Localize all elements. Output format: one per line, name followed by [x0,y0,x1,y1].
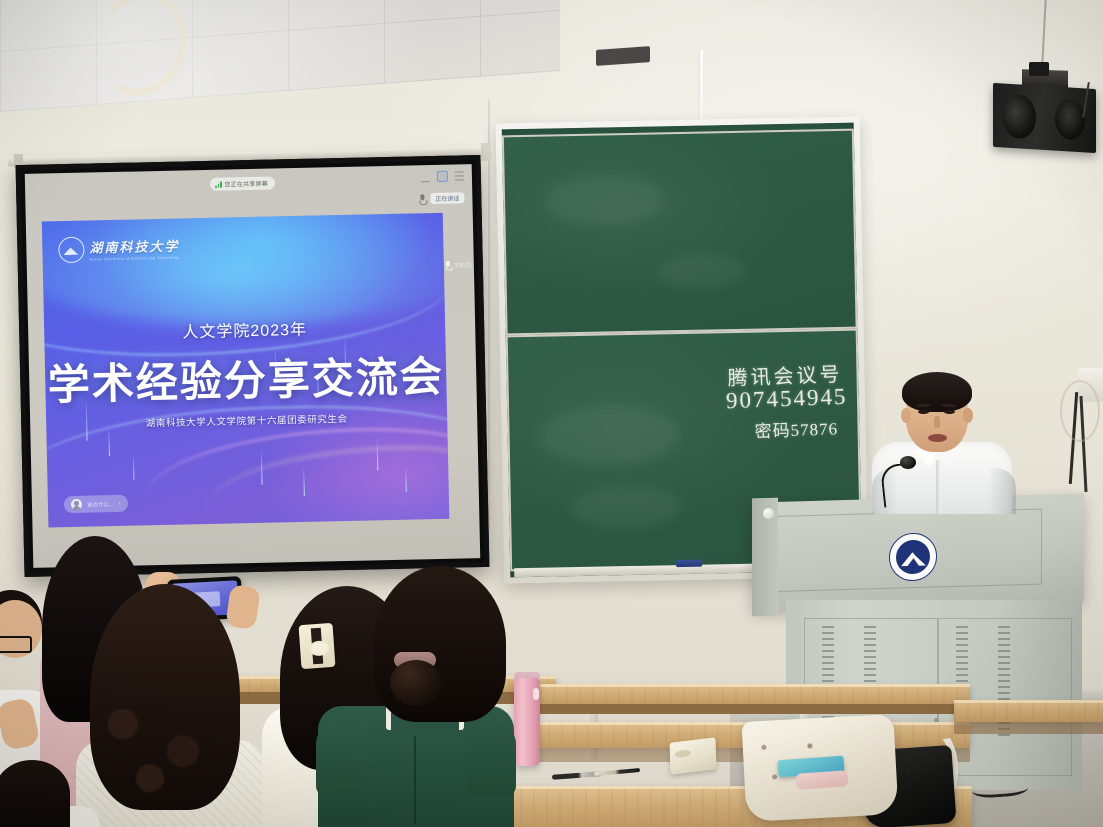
microphone-gooseneck [880,462,916,507]
slide-logo-chinese: 湖南科技大学 [89,236,180,257]
dress-back-seam [414,736,416,824]
slide-university-logo: 湖南科技大学 Hunan University of Science and T… [58,235,180,264]
speaker-ear-right [963,408,973,423]
blackboard-text-meeting-number: 907454945 [725,384,847,414]
slide-logo-english: Hunan University of Science and Technolo… [90,256,180,262]
signal-bars-icon [215,181,222,187]
speaker-hair [902,372,972,412]
wall-seam-secondary [488,100,490,530]
speaker-eye-left [918,410,929,414]
projection-screen: 您正在共享屏幕 正在讲话 学科办 [16,155,490,577]
chat-input-placeholder: 说点什么... [87,500,114,509]
cable-coil [1060,380,1100,442]
hair-bun [390,660,442,706]
bench-desk-front [496,722,970,748]
bench-shadow-right [954,722,1103,734]
chat-avatar-icon [71,499,82,510]
shirt-shadow-right [988,468,1016,514]
speaking-status: 正在讲话 [419,192,464,204]
hamburger-menu-icon[interactable] [455,171,464,180]
tissue-packet[interactable] [669,737,716,775]
student-green-dress-sleeve-right [466,722,516,796]
shirt-placket [936,460,941,514]
podium-microphone[interactable] [878,452,918,504]
chat-input-pill[interactable]: 说点什么... ‹ [64,495,128,513]
bench-desk-mid [540,684,970,704]
wall-speaker-bracket [1029,62,1049,76]
blackboard-panel-upper[interactable] [502,129,858,336]
blackboard-text-password: 密码57876 [754,414,838,442]
speaker-mouth [928,434,947,442]
window-controls[interactable] [421,170,464,182]
blackboard-eraser[interactable] [676,560,702,567]
thermos-button[interactable] [533,688,539,700]
student-green-dress-hair [374,566,506,722]
chevron-left-icon[interactable]: ‹ [118,500,120,506]
bench-desk-right [954,700,1103,722]
speaking-status-label: 正在讲话 [430,192,464,204]
podium-knob[interactable] [763,508,774,519]
minimize-icon[interactable] [421,172,430,182]
speaker-nose [934,416,940,428]
participant-name-label: 学科办 [454,260,472,269]
hair-clip [299,623,336,669]
screen-mount-right [481,143,491,161]
microphone-icon[interactable] [419,194,425,204]
student-curly-hair [90,584,240,810]
screen-share-banner: 您正在共享屏幕 [210,176,275,190]
university-crest-icon [58,237,85,264]
screen-share-banner-label: 您正在共享屏幕 [224,179,268,189]
wall-speaker-icon [993,83,1096,153]
slide-logo-text: 湖南科技大学 Hunan University of Science and T… [89,236,180,262]
maximize-icon[interactable] [437,171,448,182]
participant-mic-icon [446,261,451,270]
student-green-dress-sleeve-left [316,722,368,796]
student-foreground-head [0,760,70,827]
speaker-ear-left [901,408,911,423]
slide-title: 学术经验分享交流会 [45,343,447,413]
projection-screen-surface: 您正在共享屏幕 正在讲话 学科办 [25,164,480,568]
microphone-head-icon [900,456,916,469]
bench-shadow-mid [540,704,970,714]
eyeglasses-icon [0,636,32,653]
classroom-photo: 腾讯会议号 907454945 密码57876 您正在共享屏幕 正在讲话 [0,0,1103,827]
presentation-slide: 湖南科技大学 Hunan University of Science and T… [42,213,450,528]
speaker-eye-right [944,410,955,414]
